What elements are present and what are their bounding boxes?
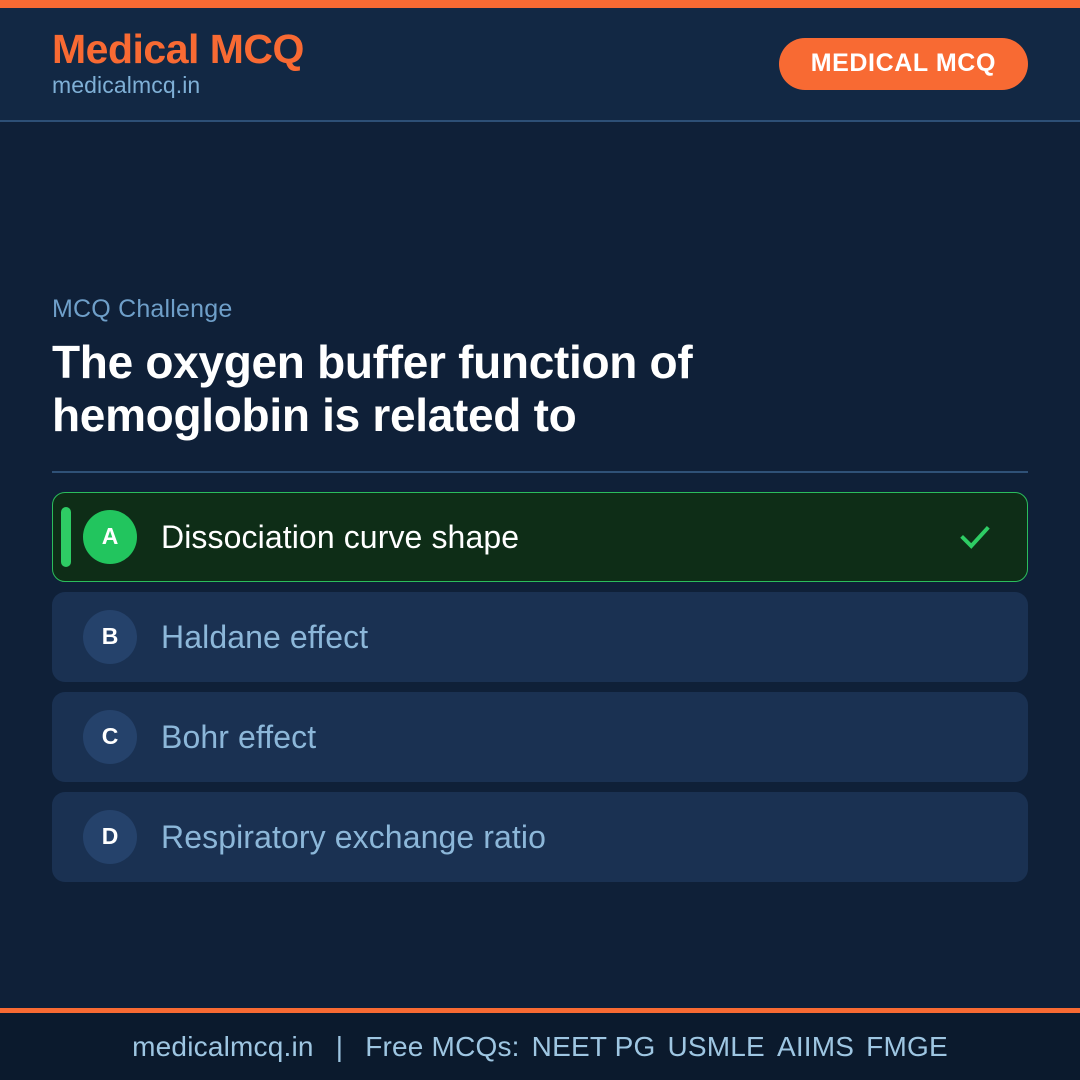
footer-exam-neetpg[interactable]: NEET PG [532, 1031, 656, 1063]
option-row-c[interactable]: C Bohr effect [52, 692, 1028, 782]
question-text: The oxygen buffer function of hemoglobin… [52, 336, 952, 443]
option-text-d: Respiratory exchange ratio [161, 818, 1003, 856]
top-accent-bar [0, 0, 1080, 8]
option-key-a: A [83, 510, 137, 564]
option-key-c: C [83, 710, 137, 764]
question-block: MCQ Challenge The oxygen buffer function… [52, 294, 1028, 443]
option-row-d[interactable]: D Respiratory exchange ratio [52, 792, 1028, 882]
eyebrow-label: MCQ Challenge [52, 294, 1028, 324]
option-row-b[interactable]: B Haldane effect [52, 592, 1028, 682]
footer-text: medicalmcq.in | Free MCQs: NEET PG USMLE… [132, 1031, 948, 1063]
option-text-c: Bohr effect [161, 718, 1003, 756]
option-key-d: D [83, 810, 137, 864]
brand-url: medicalmcq.in [52, 72, 304, 100]
page-header: Medical MCQ medicalmcq.in MEDICAL MCQ [0, 8, 1080, 122]
options-list: A Dissociation curve shape B Haldane eff… [52, 492, 1028, 882]
main-content: MCQ Challenge The oxygen buffer function… [0, 122, 1080, 1008]
brand-block: Medical MCQ medicalmcq.in [52, 28, 304, 100]
footer-exam-aiims[interactable]: AIIMS [777, 1031, 854, 1063]
option-row-a[interactable]: A Dissociation curve shape [52, 492, 1028, 582]
footer-separator: | [336, 1031, 343, 1063]
check-icon [957, 519, 993, 555]
option-text-b: Haldane effect [161, 618, 1003, 656]
footer-site[interactable]: medicalmcq.in [132, 1031, 314, 1063]
brand-badge[interactable]: MEDICAL MCQ [779, 38, 1028, 90]
page-footer: medicalmcq.in | Free MCQs: NEET PG USMLE… [0, 1008, 1080, 1080]
question-divider [52, 471, 1028, 473]
footer-prefix: Free MCQs: [365, 1031, 519, 1063]
footer-exam-fmge[interactable]: FMGE [866, 1031, 948, 1063]
correct-accent-bar [61, 507, 71, 567]
mcq-card: Medical MCQ medicalmcq.in MEDICAL MCQ MC… [0, 0, 1080, 1080]
option-text-a: Dissociation curve shape [161, 518, 957, 556]
footer-exam-usmle[interactable]: USMLE [667, 1031, 764, 1063]
brand-title: Medical MCQ [52, 28, 304, 71]
option-key-b: B [83, 610, 137, 664]
